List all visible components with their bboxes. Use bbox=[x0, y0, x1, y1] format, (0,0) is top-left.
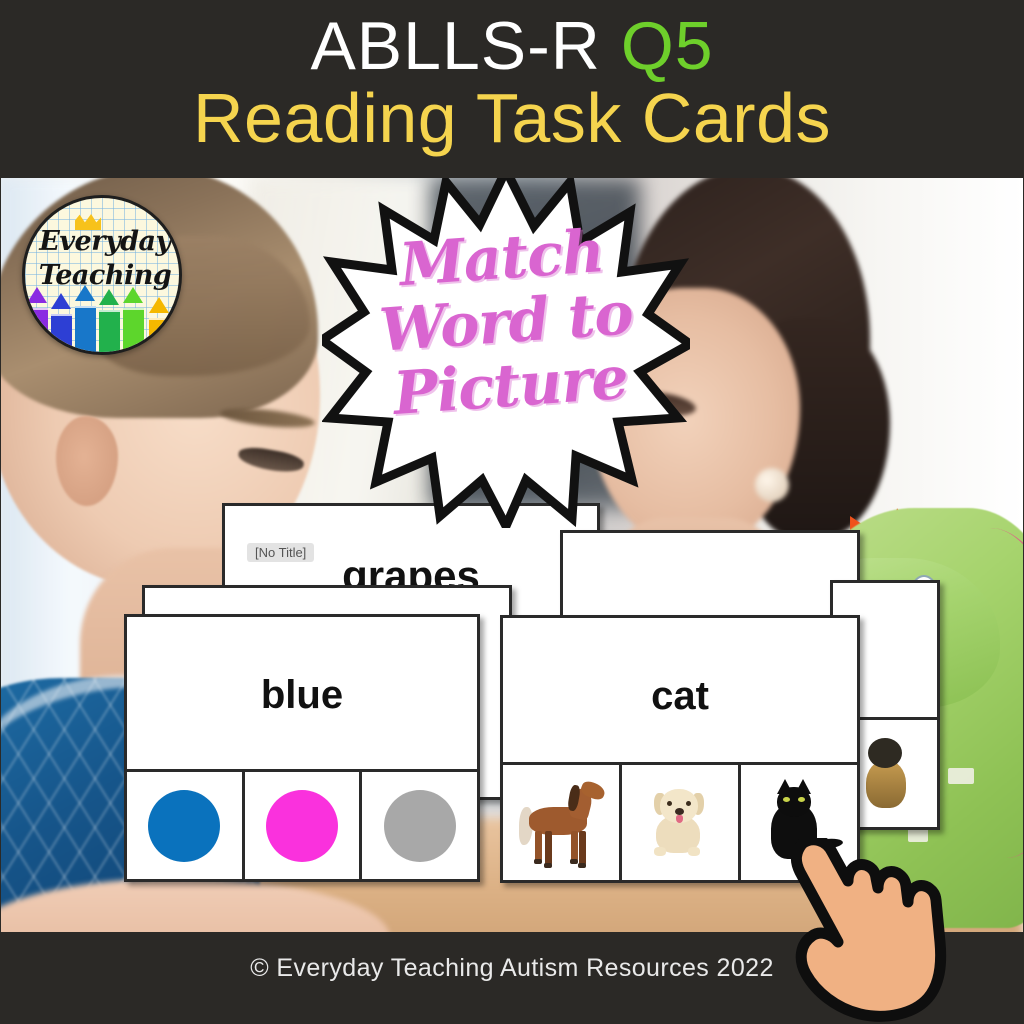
horse-leg bbox=[579, 831, 586, 865]
task-card-blue[interactable]: blue bbox=[124, 614, 480, 882]
everyday-teaching-logo[interactable]: Everyday Teaching bbox=[22, 195, 182, 355]
horse-picture bbox=[513, 777, 609, 869]
cat-eye bbox=[783, 797, 790, 802]
cat-head bbox=[777, 787, 811, 817]
match-word-to-picture-badge: Match Word to Picture bbox=[322, 168, 690, 528]
dog-eye bbox=[667, 801, 672, 806]
dog-paw bbox=[688, 847, 700, 856]
crayon-lightgreen bbox=[123, 287, 144, 352]
choice-cell-pink[interactable] bbox=[245, 772, 363, 879]
choice-cell-blue[interactable] bbox=[127, 772, 245, 879]
horse-leg bbox=[545, 831, 552, 865]
logo-line-1: Everyday bbox=[25, 226, 182, 257]
crayon-blue bbox=[51, 293, 72, 352]
dog-tongue bbox=[676, 815, 683, 823]
dog-eye bbox=[686, 801, 691, 806]
pink-circle-icon bbox=[266, 790, 338, 862]
choice-row bbox=[127, 769, 477, 879]
title-main-text: ABLLS-R bbox=[310, 8, 620, 84]
page-subtitle: Reading Task Cards bbox=[193, 78, 831, 158]
horse-hoof bbox=[544, 863, 552, 868]
choice-cell-dog[interactable] bbox=[622, 765, 741, 880]
crayons-graphic bbox=[25, 290, 182, 352]
cat-eye bbox=[798, 797, 805, 802]
blue-circle-icon bbox=[148, 790, 220, 862]
dog-paw bbox=[654, 847, 666, 856]
header-band: ABLLS-R Q5 Reading Task Cards bbox=[0, 0, 1024, 178]
dog-nose bbox=[675, 808, 684, 815]
badge-text: Match Word to Picture bbox=[316, 213, 696, 430]
crayon-purple bbox=[27, 287, 48, 352]
task-card-word: cat bbox=[503, 674, 857, 719]
pointing-hand-icon bbox=[772, 838, 962, 1024]
chick-head bbox=[868, 738, 902, 768]
grey-circle-icon bbox=[384, 790, 456, 862]
horse-leg bbox=[571, 831, 578, 861]
product-cover-image: [No Title] grapes blue bbox=[0, 0, 1024, 1024]
horse-hoof bbox=[570, 859, 578, 864]
dino-tag bbox=[948, 768, 974, 784]
horse-hoof bbox=[534, 859, 542, 864]
choice-cell-grey[interactable] bbox=[362, 772, 477, 879]
title-accent-text: Q5 bbox=[621, 8, 714, 84]
crayon-green bbox=[99, 289, 120, 352]
crayon-lightblue bbox=[75, 285, 96, 352]
choice-cell-horse[interactable] bbox=[503, 765, 622, 880]
chick-picture bbox=[862, 734, 908, 814]
page-title: ABLLS-R Q5 bbox=[310, 8, 713, 84]
dog-picture bbox=[632, 777, 728, 869]
horse-leg bbox=[535, 831, 542, 861]
hand-cursor-shape bbox=[772, 838, 962, 1024]
logo-line-2: Teaching bbox=[25, 260, 182, 291]
horse-hoof bbox=[578, 863, 586, 868]
crayon-yellow bbox=[149, 297, 170, 352]
task-card-word: blue bbox=[127, 673, 477, 718]
